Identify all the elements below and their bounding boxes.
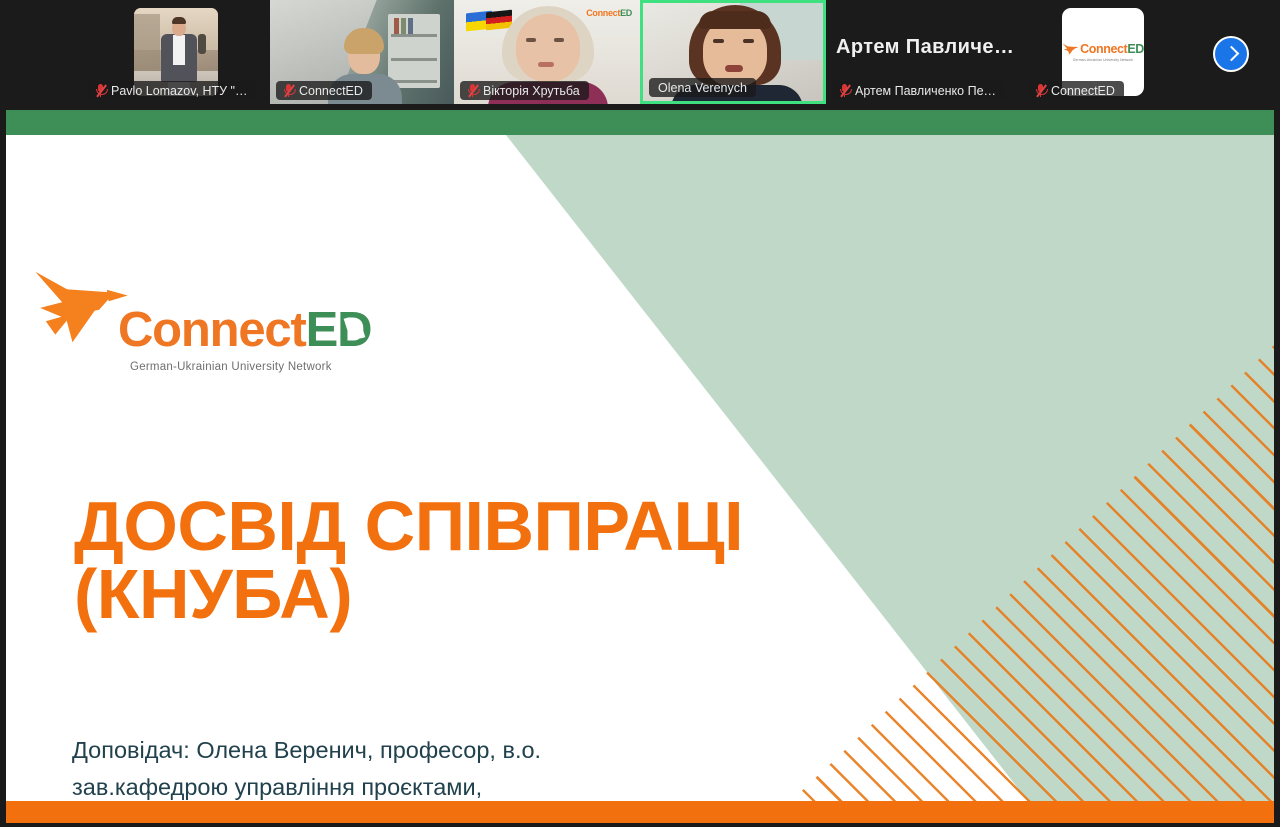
- microphone-muted-icon: [467, 84, 478, 98]
- participant-name-chip: ConnectED: [1028, 81, 1124, 100]
- chevron-right-icon: [1224, 46, 1240, 62]
- participant-name-chip: Вікторія Хрутьба: [460, 81, 589, 100]
- origami-bird-icon: [1062, 42, 1079, 56]
- connected-wordmark: ConnectED: [1080, 43, 1144, 56]
- next-page-button[interactable]: [1213, 36, 1249, 72]
- logo-tagline: German-Ukrainian University Network: [1067, 58, 1139, 62]
- zoom-meeting-window: Pavlo Lomazov, НТУ "… C: [0, 0, 1280, 827]
- microphone-muted-icon: [283, 84, 294, 98]
- participant-name: ConnectED: [299, 85, 363, 98]
- video-tile-artem[interactable]: Артем Павличе… Артем Павличенко Пе…: [826, 0, 1022, 104]
- participant-name: Вікторія Хрутьба: [483, 85, 580, 98]
- logo-tagline: German-Ukrainian University Network: [130, 361, 332, 373]
- shared-slide: ConnectED German-Ukrainian University Ne…: [6, 110, 1274, 823]
- connected-logo: ConnectED German-Ukrainian University Ne…: [34, 260, 314, 380]
- participant-name-chip: Артем Павличенко Пе…: [832, 81, 1005, 100]
- slide-bottom-bar: [6, 801, 1274, 823]
- video-tile-olena-active-speaker[interactable]: Olena Verenych: [640, 0, 826, 104]
- participant-name: Pavlo Lomazov, НТУ "…: [111, 85, 248, 98]
- participant-name-chip: Olena Verenych: [649, 78, 756, 97]
- participant-display-name: Артем Павличе…: [836, 36, 1018, 59]
- video-tile-viktoriia[interactable]: ConnectED Вікторія Хрутьба: [454, 0, 640, 104]
- participant-name: Артем Павличенко Пе…: [855, 85, 996, 98]
- microphone-muted-icon: [95, 84, 106, 98]
- logo-wordmark: ConnectED: [118, 306, 371, 355]
- video-tile-connected-1[interactable]: ConnectED: [270, 0, 454, 104]
- slide-top-bar: [6, 110, 1274, 135]
- video-tile-connected-2[interactable]: ConnectED German-Ukrainian University Ne…: [1022, 0, 1202, 104]
- video-filmstrip: Pavlo Lomazov, НТУ "… C: [0, 0, 1280, 110]
- microphone-muted-icon: [1035, 84, 1046, 98]
- slide-title: ДОСВІД СПІВПРАЦІ (КНУБА): [74, 493, 894, 629]
- participant-name: ConnectED: [1051, 85, 1115, 98]
- participant-name: Olena Verenych: [658, 82, 747, 95]
- video-tile-pavlo[interactable]: Pavlo Lomazov, НТУ "…: [82, 0, 270, 104]
- microphone-muted-icon: [839, 84, 850, 98]
- logo-word-connect: Connect: [118, 303, 306, 357]
- participant-name-chip: Pavlo Lomazov, НТУ "…: [88, 81, 257, 100]
- origami-bird-icon: [34, 266, 130, 346]
- connected-watermark-logo: ConnectED: [586, 8, 632, 18]
- participant-name-chip: ConnectED: [276, 81, 372, 100]
